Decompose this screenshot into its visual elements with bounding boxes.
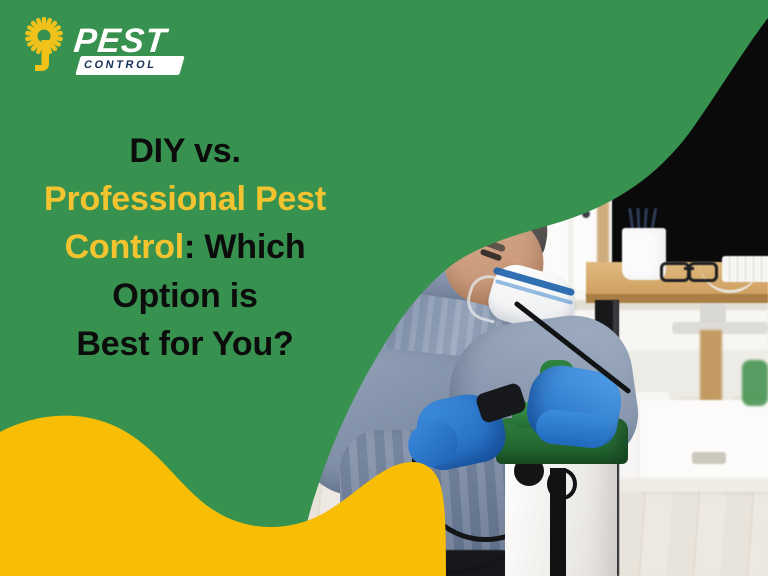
title-line-3-highlight: Control [65, 228, 184, 266]
title-line-3-rest: : Which [184, 228, 305, 266]
title-line-4: Option is [0, 272, 370, 320]
banner-canvas: PEST CONTROL DIY vs. Professional Pest C… [0, 0, 768, 576]
logo-wordmark: PEST [72, 24, 168, 58]
sunflower-icon [18, 16, 74, 72]
page-title: DIY vs. Professional Pest Control: Which… [0, 127, 370, 368]
title-line-3: Control: Which [0, 223, 370, 271]
logo-banner-text: CONTROL [83, 59, 185, 71]
site-logo[interactable]: PEST CONTROL [18, 16, 178, 82]
title-line-1: DIY vs. [0, 127, 370, 175]
title-line-5: Best for You? [0, 320, 370, 368]
title-line-2: Professional Pest [0, 175, 370, 223]
